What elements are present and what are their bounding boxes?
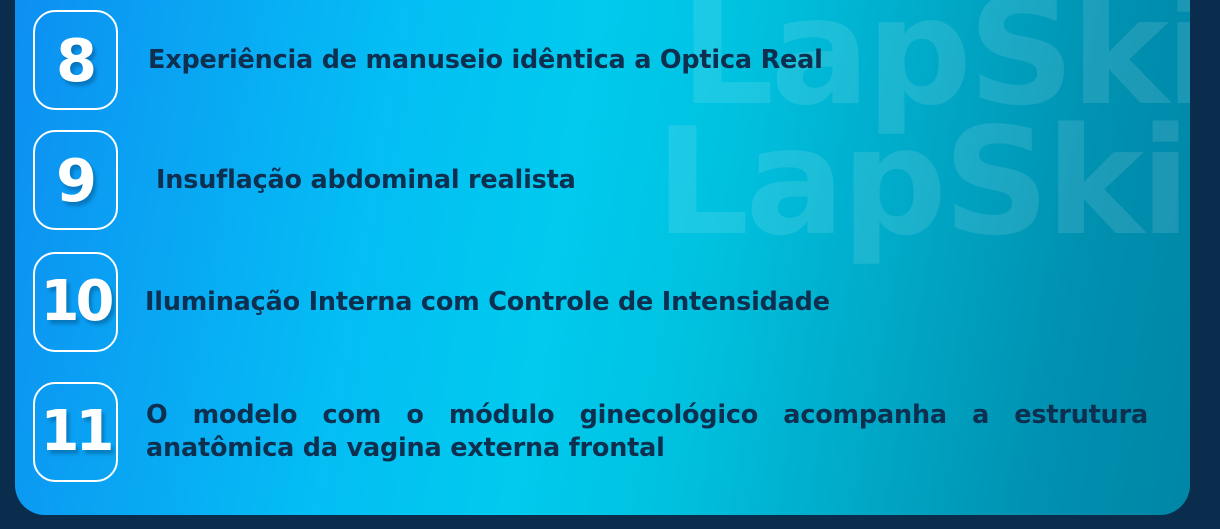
feature-number-badge-9: 9 — [33, 130, 118, 230]
feature-number-badge-10: 10 — [33, 252, 118, 352]
feature-text-11-line-1: O modelo com o módulo ginecológico acomp… — [146, 399, 1148, 432]
feature-text-8: Experiência de manuseio idêntica a Optic… — [148, 44, 928, 77]
feature-number-label-11: 11 — [41, 404, 111, 460]
feature-number-badge-8: 8 — [33, 10, 118, 110]
feature-item-10: 10 Iluminação Interna com Controle de In… — [33, 252, 965, 352]
slide-canvas: LapSkill LapSkill 8 Experiência de manus… — [0, 0, 1220, 529]
features-panel: LapSkill LapSkill 8 Experiência de manus… — [15, 0, 1190, 515]
feature-number-label-10: 10 — [41, 274, 111, 330]
feature-item-8: 8 Experiência de manuseio idêntica a Opt… — [33, 10, 928, 110]
feature-number-badge-11: 11 — [33, 382, 118, 482]
feature-item-11: 11 O modelo com o módulo ginecológico ac… — [33, 382, 1148, 482]
feature-number-label-9: 9 — [56, 151, 95, 210]
feature-item-9: 9 Insuflação abdominal realista — [33, 130, 936, 230]
feature-text-10: Iluminação Interna com Controle de Inten… — [145, 286, 965, 319]
feature-list: 8 Experiência de manuseio idêntica a Opt… — [15, 0, 1190, 515]
feature-text-11: O modelo com o módulo ginecológico acomp… — [146, 399, 1148, 464]
feature-number-label-8: 8 — [56, 31, 95, 90]
feature-text-11-line-2: anatômica da vagina externa frontal — [146, 432, 1148, 465]
feature-text-9: Insuflação abdominal realista — [156, 164, 936, 197]
